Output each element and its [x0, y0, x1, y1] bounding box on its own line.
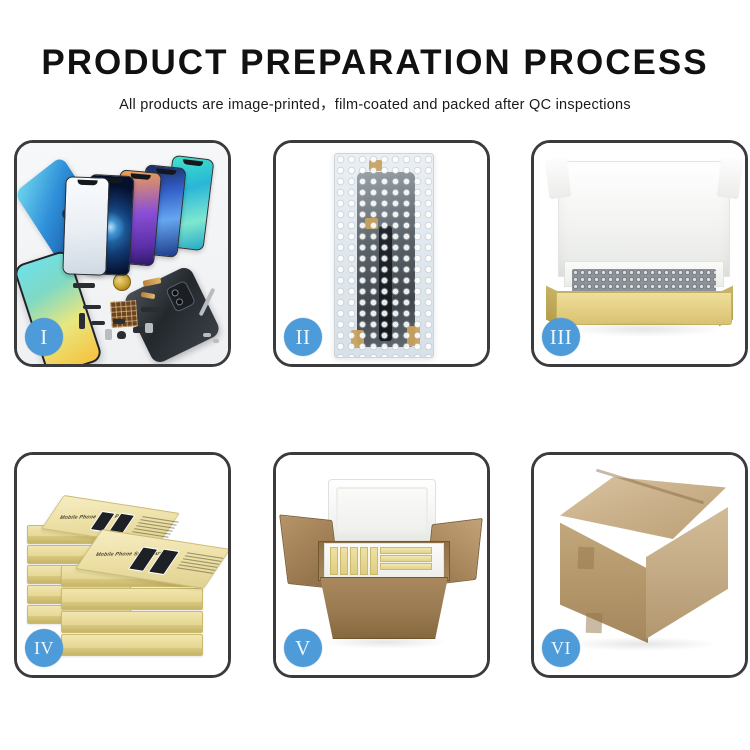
spare-part — [113, 319, 125, 324]
box-front-panel — [556, 291, 732, 325]
spare-part — [73, 283, 95, 288]
carton-tape — [578, 547, 595, 570]
spare-part — [141, 307, 161, 312]
step-card-3: III — [531, 140, 748, 367]
spare-part — [105, 329, 112, 340]
step-badge-4: IV — [25, 629, 63, 667]
packed-box — [370, 547, 378, 575]
carton-body — [320, 577, 448, 639]
spare-part — [145, 323, 153, 333]
bubble-texture — [335, 154, 433, 357]
carton-tape — [586, 613, 603, 634]
bubble-wrap-pouch — [334, 153, 434, 358]
step-card-4: Mobile Phone Spare Parts Mobile Pho — [14, 452, 231, 678]
step-card-1: I — [14, 140, 231, 367]
screw-part — [213, 339, 219, 343]
packed-box — [330, 547, 338, 575]
box-lid-open — [558, 161, 730, 277]
object-shadow — [564, 321, 724, 337]
step-card-5: V — [273, 452, 490, 678]
packed-box — [380, 563, 432, 570]
camera-module-icon — [165, 280, 196, 313]
packed-box — [340, 547, 348, 575]
step-card-2: II — [273, 140, 490, 367]
spare-part — [83, 305, 101, 309]
step-badge-6: VI — [542, 629, 580, 667]
step-badge-5: V — [284, 629, 322, 667]
step-card-6: VI — [531, 452, 748, 678]
packed-box — [360, 547, 368, 575]
product-preparation-infographic: PRODUCT PREPARATION PROCESS All products… — [0, 0, 750, 750]
process-steps-grid: I II — [0, 0, 750, 750]
spare-part — [79, 313, 85, 329]
stacked-box — [61, 611, 203, 633]
packed-box — [380, 547, 432, 554]
foam-lid — [328, 479, 436, 541]
phone-device-white — [62, 176, 109, 275]
object-shadow — [564, 637, 720, 651]
spare-part — [91, 321, 105, 325]
step-badge-3: III — [542, 318, 580, 356]
stacked-box — [61, 588, 203, 610]
packed-boxes-group — [330, 547, 438, 575]
spare-part — [133, 327, 143, 333]
screw-part — [203, 333, 211, 337]
step-badge-2: II — [284, 318, 322, 356]
packed-box — [380, 555, 432, 562]
speaker-part — [117, 331, 126, 339]
step-badge-1: I — [25, 318, 63, 356]
packed-box — [350, 547, 358, 575]
object-shadow — [322, 635, 448, 649]
stacked-box — [61, 634, 203, 656]
